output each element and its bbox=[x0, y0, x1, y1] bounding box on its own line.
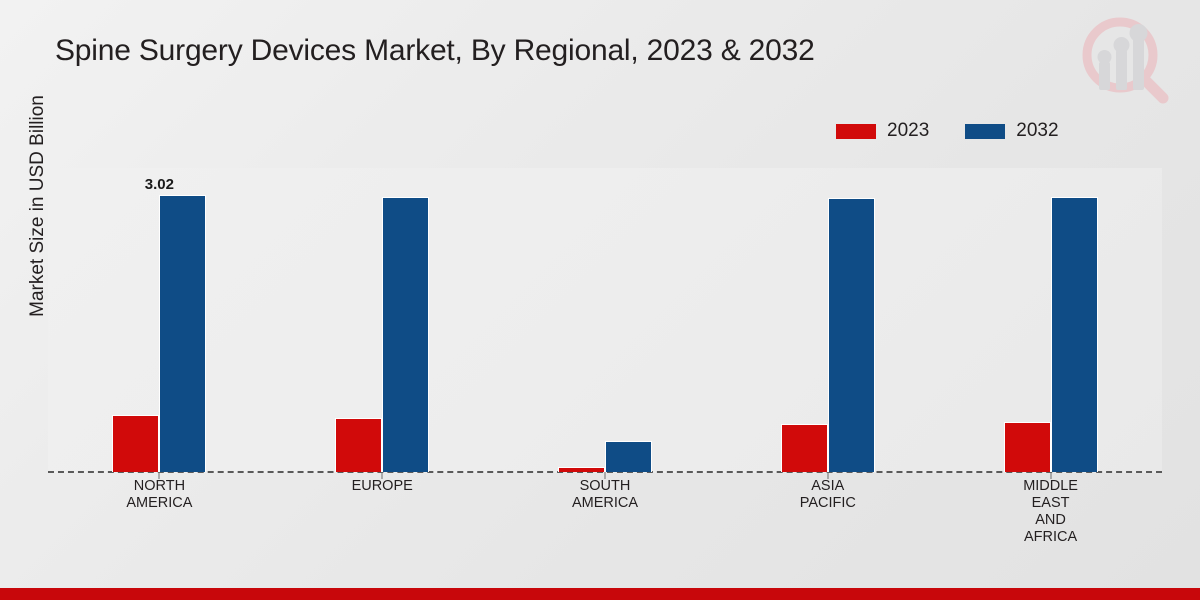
footer-accent-bar bbox=[0, 588, 1200, 600]
legend-label-2023: 2023 bbox=[887, 120, 929, 142]
bar-group-north-america: 3.02 bbox=[48, 168, 271, 472]
x-axis-label-line: PACIFIC bbox=[716, 495, 939, 512]
chart-page: Spine Surgery Devices Market, By Regiona… bbox=[0, 0, 1200, 600]
x-axis-label-north-america: NORTHAMERICA bbox=[48, 478, 271, 546]
bar-value-label: 3.02 bbox=[145, 176, 174, 193]
x-axis-label-middle-east-and-africa: MIDDLEEASTANDAFRICA bbox=[939, 478, 1162, 546]
bar-pair bbox=[1004, 197, 1098, 473]
bar-2023[interactable]: 3.02 bbox=[112, 415, 159, 472]
x-axis-category-labels: NORTHAMERICA EUROPE SOUTHAMERICA ASIAPAC… bbox=[48, 478, 1162, 546]
x-axis-label-line: EAST bbox=[939, 495, 1162, 512]
y-axis-title: Market Size in USD Billion bbox=[27, 56, 49, 356]
bar-2023[interactable] bbox=[1004, 422, 1051, 472]
bar-2032[interactable] bbox=[382, 197, 429, 473]
x-axis-label-line: AFRICA bbox=[939, 529, 1162, 546]
x-axis-label-south-america: SOUTHAMERICA bbox=[494, 478, 717, 546]
legend-item-2032[interactable]: 2032 bbox=[965, 120, 1058, 142]
bar-groups: 3.02 bbox=[48, 168, 1162, 472]
x-axis-label-line: SOUTH bbox=[494, 478, 717, 495]
legend-item-2023[interactable]: 2023 bbox=[836, 120, 929, 142]
legend-swatch-2023 bbox=[836, 124, 876, 139]
market-research-magnifier-logo-icon bbox=[1068, 10, 1178, 110]
x-axis-label-line: AMERICA bbox=[494, 495, 717, 512]
bar-pair bbox=[558, 441, 652, 472]
page-title: Spine Surgery Devices Market, By Regiona… bbox=[55, 34, 815, 68]
bar-pair: 3.02 bbox=[112, 195, 206, 472]
x-axis-label-line: ASIA bbox=[716, 478, 939, 495]
x-axis-label-line: NORTH bbox=[48, 478, 271, 495]
bar-2032[interactable] bbox=[605, 441, 652, 472]
bar-group-middle-east-and-africa bbox=[939, 168, 1162, 472]
bar-group-asia-pacific bbox=[716, 168, 939, 472]
bar-2023[interactable] bbox=[335, 418, 382, 472]
bar-group-south-america bbox=[494, 168, 717, 472]
chart-legend: 2023 2032 bbox=[836, 120, 1059, 142]
bar-pair bbox=[335, 197, 429, 473]
bar-group-europe bbox=[271, 168, 494, 472]
bar-2023[interactable] bbox=[558, 467, 605, 472]
x-axis-label-europe: EUROPE bbox=[271, 478, 494, 546]
x-axis-label-line: AND bbox=[939, 512, 1162, 529]
legend-label-2032: 2032 bbox=[1016, 120, 1058, 142]
bar-2032[interactable] bbox=[159, 195, 206, 472]
bar-2032[interactable] bbox=[828, 198, 875, 472]
x-axis-label-line: MIDDLE bbox=[939, 478, 1162, 495]
bar-2032[interactable] bbox=[1051, 197, 1098, 473]
x-axis-label-line: AMERICA bbox=[48, 495, 271, 512]
legend-swatch-2032 bbox=[965, 124, 1005, 139]
bar-2023[interactable] bbox=[781, 424, 828, 472]
x-axis-label-asia-pacific: ASIAPACIFIC bbox=[716, 478, 939, 546]
bar-pair bbox=[781, 198, 875, 472]
x-axis-label-line: EUROPE bbox=[271, 478, 494, 495]
